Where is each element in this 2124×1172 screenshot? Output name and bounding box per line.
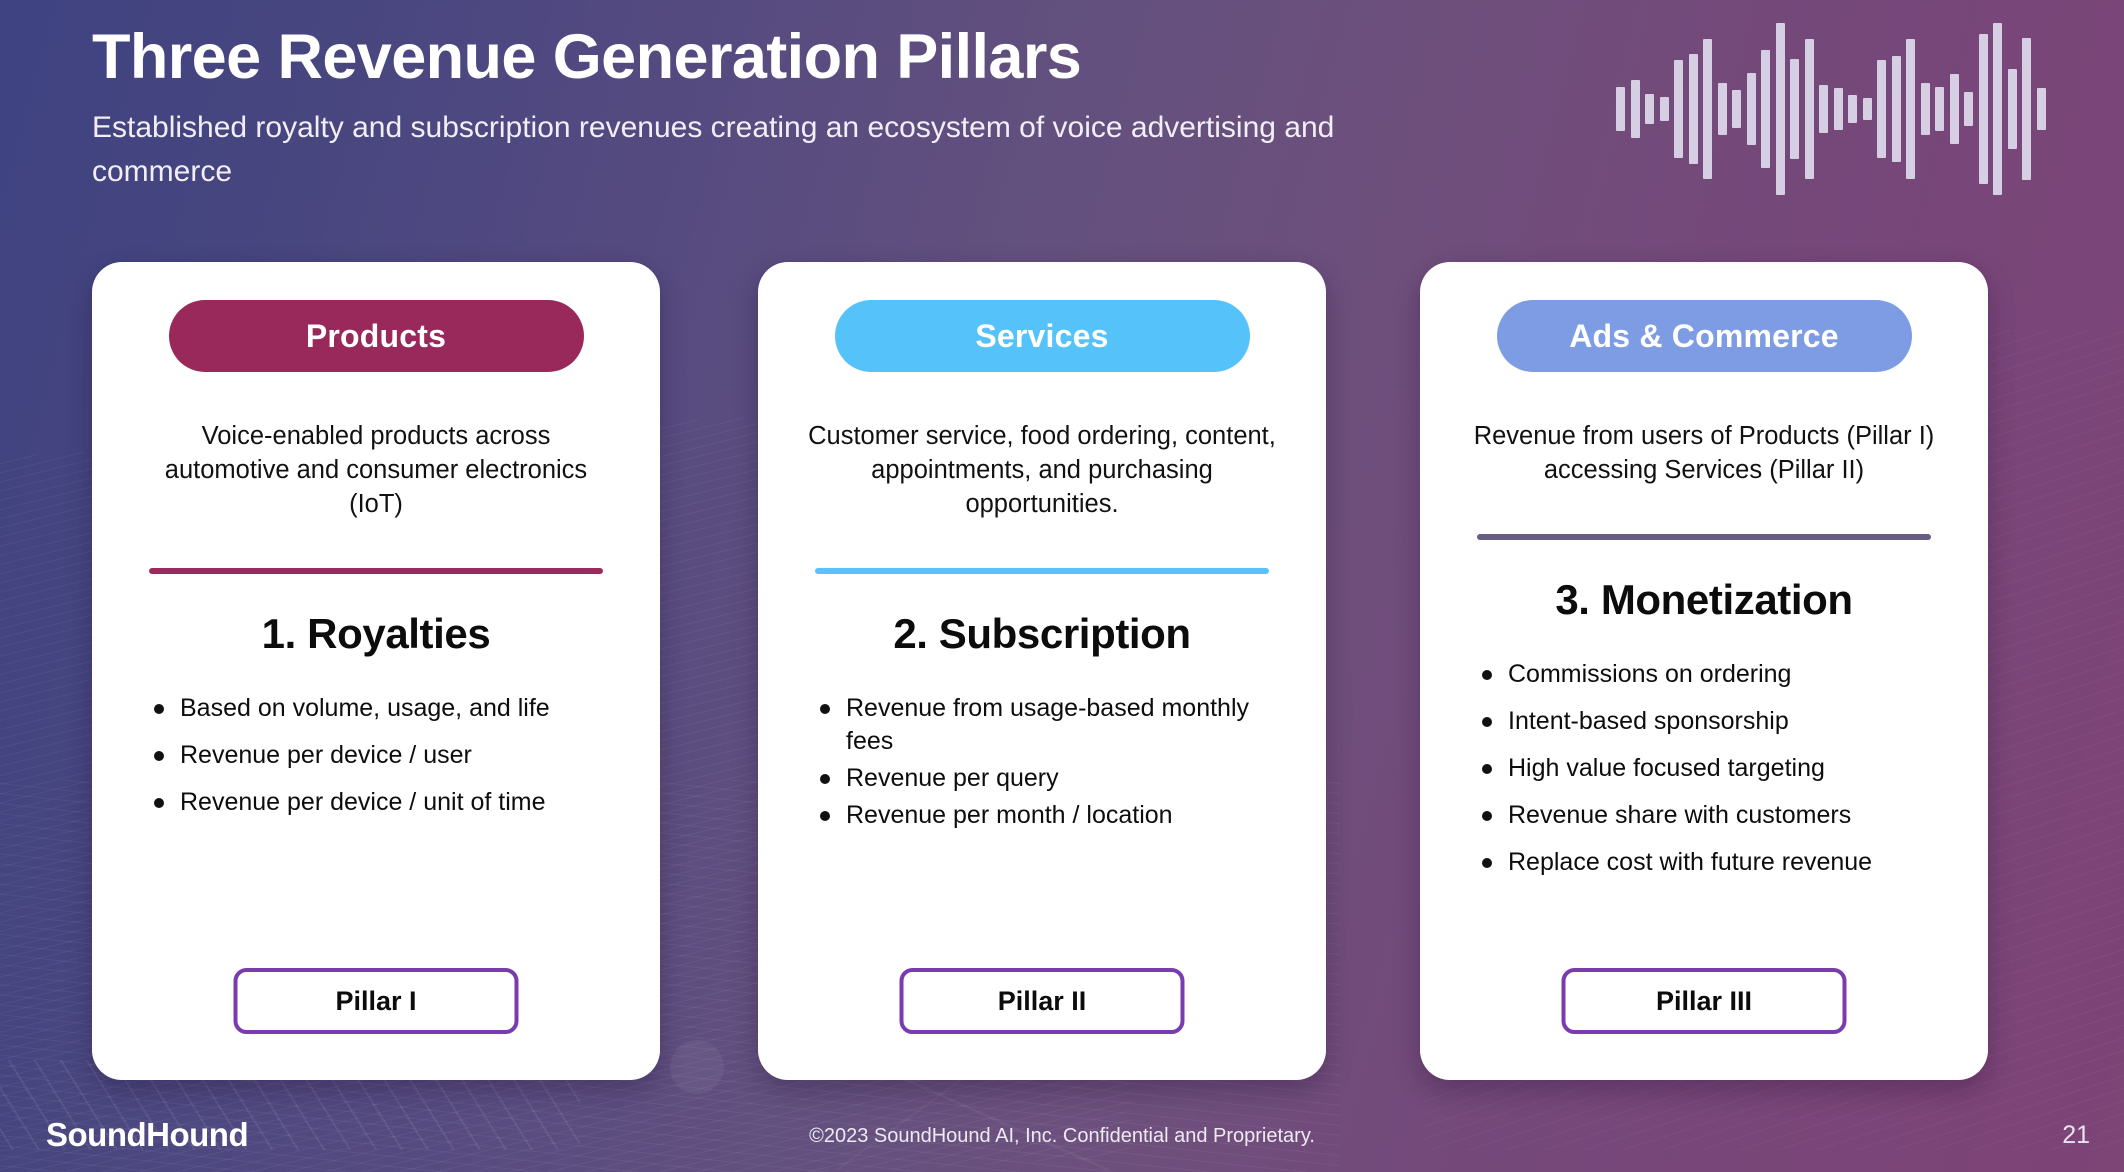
audio-waveform-icon xyxy=(1616,6,2046,211)
card-bullet-list: Based on volume, usage, and lifeRevenue … xyxy=(126,692,626,833)
waveform-bar xyxy=(2037,88,2046,130)
waveform-bar xyxy=(2008,69,2017,149)
list-item: Commissions on ordering xyxy=(1476,658,1954,691)
waveform-bar xyxy=(1689,54,1698,164)
card-heading: 1. Royalties xyxy=(262,610,491,658)
card-pill-badge: Ads & Commerce xyxy=(1497,300,1912,372)
slide: Three Revenue Generation Pillars Establi… xyxy=(0,0,2124,1172)
slide-header: Three Revenue Generation Pillars Establi… xyxy=(92,20,1542,193)
card-bullet-list: Commissions on orderingIntent-based spon… xyxy=(1454,658,1954,893)
list-item: Revenue per query xyxy=(814,762,1292,795)
waveform-bar xyxy=(1790,59,1799,159)
waveform-bar xyxy=(1660,97,1669,121)
waveform-bar xyxy=(1877,60,1886,158)
waveform-bar xyxy=(1776,23,1785,195)
page-number: 21 xyxy=(2062,1121,2090,1150)
card-divider xyxy=(149,568,603,574)
waveform-bar xyxy=(1732,90,1741,128)
pillar-card-row: Products Voice-enabled products across a… xyxy=(0,262,2124,1082)
soundhound-logo: SoundHound xyxy=(46,1116,248,1154)
list-item: Revenue per device / unit of time xyxy=(148,786,626,819)
card-description: Revenue from users of Products (Pillar I… xyxy=(1469,420,1939,488)
card-pill-badge: Services xyxy=(835,300,1250,372)
waveform-bar xyxy=(1834,88,1843,130)
list-item: Revenue from usage-based monthly fees xyxy=(814,692,1292,758)
card-divider xyxy=(815,568,1269,574)
waveform-bar xyxy=(1703,39,1712,179)
card-heading: 2. Subscription xyxy=(893,610,1190,658)
waveform-bar xyxy=(1616,87,1625,131)
waveform-bar xyxy=(1935,87,1944,131)
pillar-button-label: Pillar I xyxy=(335,986,416,1017)
waveform-bar xyxy=(1921,83,1930,135)
card-heading: 3. Monetization xyxy=(1555,576,1852,624)
waveform-bar xyxy=(1718,83,1727,135)
pillar-button-label: Pillar III xyxy=(1656,986,1752,1017)
pillar-button[interactable]: Pillar II xyxy=(900,968,1185,1034)
card-divider xyxy=(1477,534,1931,540)
card-description: Customer service, food ordering, content… xyxy=(807,420,1277,522)
card-pill-label: Services xyxy=(975,318,1108,355)
pillar-button-label: Pillar II xyxy=(998,986,1087,1017)
card-pill-label: Ads & Commerce xyxy=(1569,318,1839,355)
card-pill-badge: Products xyxy=(169,300,584,372)
card-description: Voice-enabled products across automotive… xyxy=(141,420,611,522)
waveform-bar xyxy=(1863,98,1872,120)
waveform-bar xyxy=(2022,38,2031,180)
list-item: Revenue share with customers xyxy=(1476,799,1954,832)
card-pill-label: Products xyxy=(306,318,446,355)
pillar-button[interactable]: Pillar I xyxy=(234,968,519,1034)
pillar-card-products: Products Voice-enabled products across a… xyxy=(92,262,660,1080)
waveform-bar xyxy=(1761,50,1770,168)
waveform-bar xyxy=(1892,56,1901,162)
list-item: High value focused targeting xyxy=(1476,752,1954,785)
copyright-text: ©2023 SoundHound AI, Inc. Confidential a… xyxy=(809,1125,1315,1148)
list-item: Revenue per device / user xyxy=(148,739,626,772)
list-item: Intent-based sponsorship xyxy=(1476,705,1954,738)
list-item: Replace cost with future revenue xyxy=(1476,846,1954,879)
waveform-bar xyxy=(1674,60,1683,158)
list-item: Revenue per month / location xyxy=(814,799,1292,832)
pillar-card-ads-commerce: Ads & Commerce Revenue from users of Pro… xyxy=(1420,262,1988,1080)
list-item: Based on volume, usage, and life xyxy=(148,692,626,725)
page-title: Three Revenue Generation Pillars xyxy=(92,20,1542,94)
waveform-bar xyxy=(1950,74,1959,144)
waveform-bar xyxy=(1993,23,2002,195)
card-bullet-list: Revenue from usage-based monthly feesRev… xyxy=(792,692,1292,836)
waveform-bar xyxy=(1848,95,1857,123)
page-subtitle: Established royalty and subscription rev… xyxy=(92,106,1382,193)
pillar-button[interactable]: Pillar III xyxy=(1562,968,1847,1034)
waveform-bar xyxy=(1819,85,1828,133)
waveform-bar xyxy=(1979,34,1988,184)
waveform-bar xyxy=(1906,39,1915,179)
waveform-bar xyxy=(1645,94,1654,124)
waveform-bar xyxy=(1964,92,1973,126)
slide-footer: SoundHound ©2023 SoundHound AI, Inc. Con… xyxy=(0,1086,2124,1172)
pillar-card-services: Services Customer service, food ordering… xyxy=(758,262,1326,1080)
waveform-bar xyxy=(1631,80,1640,138)
waveform-bar xyxy=(1805,39,1814,179)
waveform-bar xyxy=(1747,73,1756,145)
